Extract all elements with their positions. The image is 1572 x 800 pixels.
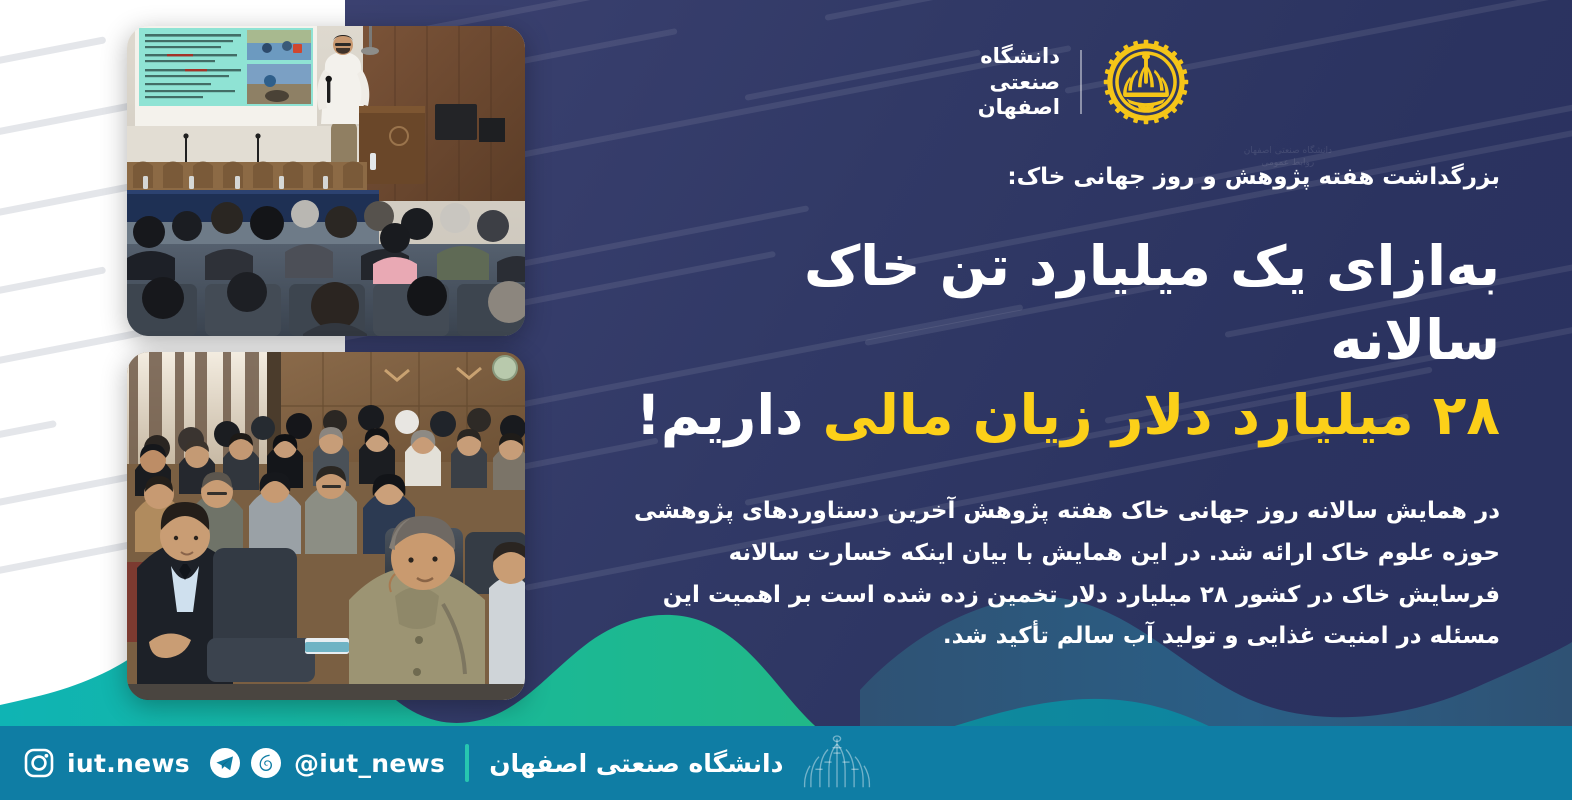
university-logo-wordmark: دانشگاه صنعتی اصفهان: [978, 44, 1060, 120]
telegram-icon[interactable]: [208, 746, 242, 780]
article-headline: به‌ازای یک میلیارد تن خاک سالانه ۲۸ میلی…: [620, 229, 1500, 453]
article-body: در همایش سالانه روز جهانی خاک هفته پژوهش…: [620, 491, 1500, 658]
instagram-handle[interactable]: iut.news: [67, 749, 190, 778]
logo-word-line-2: صنعتی: [989, 70, 1060, 95]
watermark-line-1: دانشگاه صنعتی اصفهان: [1244, 146, 1332, 158]
photo-audience-seated: [127, 352, 525, 700]
footer-instagram-group[interactable]: iut.news: [22, 746, 190, 780]
article-body-text: در همایش سالانه روز جهانی خاک هفته پژوهش…: [620, 491, 1500, 658]
footer-messenger-group[interactable]: @iut_news: [208, 746, 445, 780]
footer-bar: iut.news @iut_news دانشگاه صنعتی اصفهان: [0, 726, 1572, 800]
article-kicker: بزرگداشت هفته پژوهش و روز جهانی خاک:: [620, 160, 1500, 195]
university-logo-block: دانشگاه صنعتی اصفهان: [978, 38, 1190, 126]
iut-building-outline-icon: [801, 735, 873, 791]
footer-divider: [465, 744, 469, 782]
headline-gold-segment: ۲۸ میلیارد دلار زیان مالی: [823, 383, 1500, 447]
headline-line-1: به‌ازای یک میلیارد تن خاک سالانه: [620, 229, 1500, 379]
instagram-icon[interactable]: [22, 746, 56, 780]
iut-gear-fountain-emblem-icon: [1102, 38, 1190, 126]
headline-line-2: ۲۸ میلیارد دلار زیان مالی داریم!: [620, 378, 1500, 453]
messenger-handle[interactable]: @iut_news: [294, 749, 445, 778]
bale-icon[interactable]: [249, 746, 283, 780]
photo-speaker-podium: [127, 26, 525, 336]
logo-word-line-3: اصفهان: [978, 95, 1060, 120]
logo-divider: [1080, 50, 1082, 114]
article-text-column: بزرگداشت هفته پژوهش و روز جهانی خاک: به‌…: [620, 160, 1500, 658]
footer-university-name: دانشگاه صنعتی اصفهان: [489, 749, 783, 778]
logo-word-line-1: دانشگاه: [980, 44, 1060, 69]
photo-collage: [127, 26, 525, 700]
headline-white-segment: داریم!: [636, 383, 823, 447]
poster-canvas: دانشگاه صنعتی اصفهان دانشگاه صنعتی اصفها…: [0, 0, 1572, 800]
